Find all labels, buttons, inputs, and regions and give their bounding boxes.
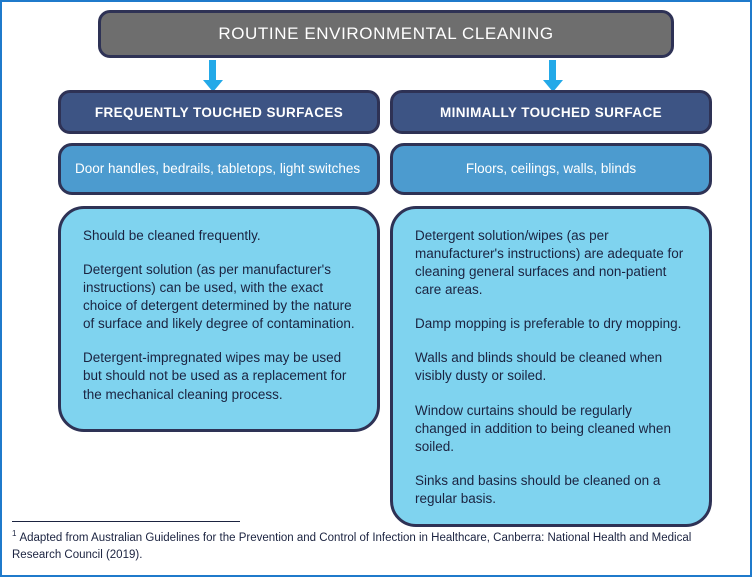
column-details-minimally-touched: Detergent solution/wipes (as per manufac… xyxy=(390,206,712,527)
arrow-shaft xyxy=(549,60,556,82)
column-details-frequently-touched: Should be cleaned frequently. Detergent … xyxy=(58,206,380,432)
detail-paragraph: Detergent-impregnated wipes may be used … xyxy=(83,349,355,403)
detail-paragraph: Should be cleaned frequently. xyxy=(83,227,355,245)
detail-paragraph: Detergent solution (as per manufacturer'… xyxy=(83,261,355,333)
detail-paragraph: Detergent solution/wipes (as per manufac… xyxy=(415,227,687,299)
arrow-shaft xyxy=(209,60,216,82)
column-examples-minimally-touched: Floors, ceilings, walls, blinds xyxy=(390,143,712,195)
detail-paragraph: Window curtains should be regularly chan… xyxy=(415,402,687,456)
footnote-text-block: 1Adapted from Australian Guidelines for … xyxy=(12,528,732,565)
column-header-label: MINIMALLY TOUCHED SURFACE xyxy=(440,105,662,120)
detail-paragraph: Walls and blinds should be cleaned when … xyxy=(415,349,687,385)
arrow-down-to-frequently-touched xyxy=(200,60,226,92)
diagram-page: ROUTINE ENVIRONMENTAL CLEANING FREQUENTL… xyxy=(0,0,752,577)
column-header-frequently-touched: FREQUENTLY TOUCHED SURFACES xyxy=(58,90,380,134)
column-frequently-touched: FREQUENTLY TOUCHED SURFACES Door handles… xyxy=(58,90,380,432)
column-examples-label: Floors, ceilings, walls, blinds xyxy=(466,160,636,178)
footnote: 1Adapted from Australian Guidelines for … xyxy=(12,521,732,565)
column-header-minimally-touched: MINIMALLY TOUCHED SURFACE xyxy=(390,90,712,134)
page-title: ROUTINE ENVIRONMENTAL CLEANING xyxy=(218,24,553,44)
footnote-text: Adapted from Australian Guidelines for t… xyxy=(12,531,691,561)
detail-paragraph: Damp mopping is preferable to dry moppin… xyxy=(415,315,687,333)
column-examples-label: Door handles, bedrails, tabletops, light… xyxy=(75,160,360,178)
detail-paragraph: Sinks and basins should be cleaned on a … xyxy=(415,472,687,508)
column-minimally-touched: MINIMALLY TOUCHED SURFACE Floors, ceilin… xyxy=(390,90,712,527)
column-header-label: FREQUENTLY TOUCHED SURFACES xyxy=(95,105,343,120)
diagram-title-box: ROUTINE ENVIRONMENTAL CLEANING xyxy=(98,10,674,58)
footnote-divider xyxy=(12,521,240,522)
footnote-marker: 1 xyxy=(12,529,16,538)
column-examples-frequently-touched: Door handles, bedrails, tabletops, light… xyxy=(58,143,380,195)
arrow-down-to-minimally-touched xyxy=(540,60,566,92)
